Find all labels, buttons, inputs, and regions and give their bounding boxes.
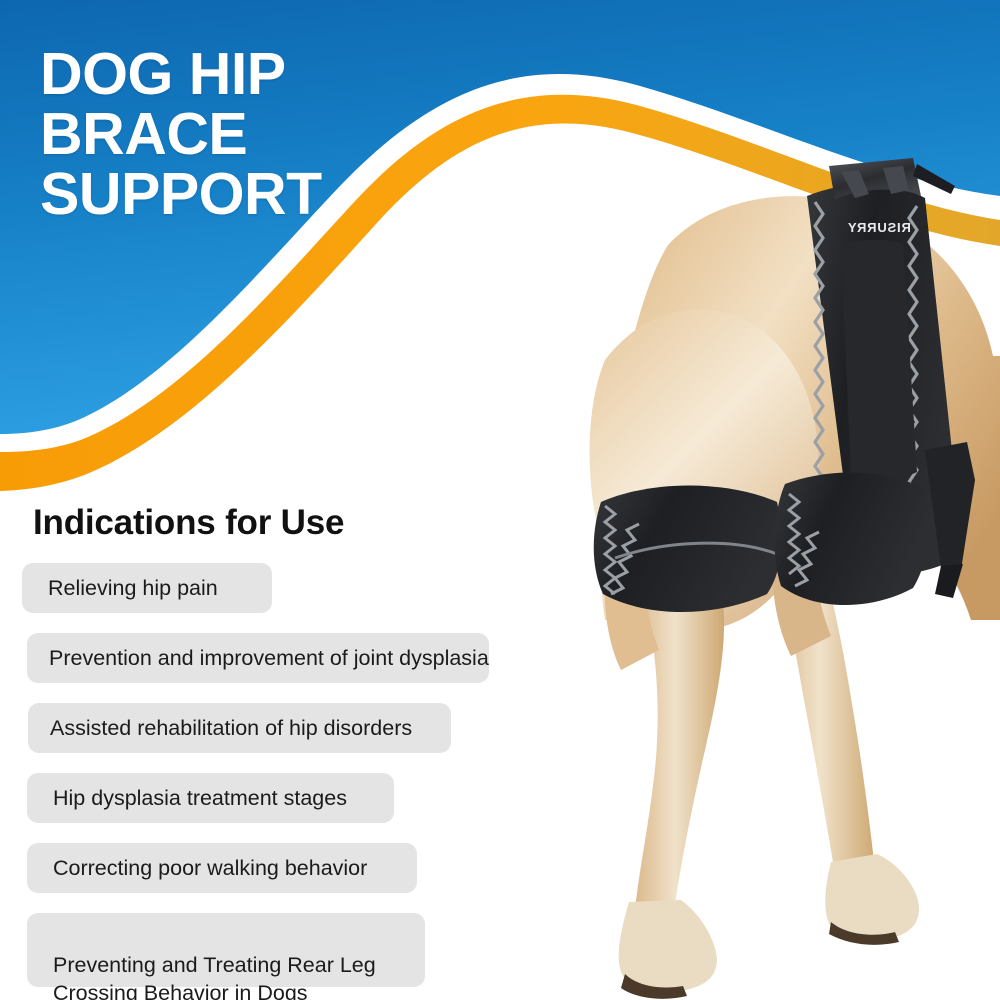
list-item-label: Preventing and Treating Rear Leg Crossin… [53, 951, 425, 1000]
brace-brand-label: RISURRY [847, 220, 911, 235]
list-item-label: Prevention and improvement of joint dysp… [49, 644, 489, 672]
indications-heading: Indications for Use [33, 503, 344, 543]
list-item-label: Hip dysplasia treatment stages [53, 784, 394, 812]
list-item-label: Relieving hip pain [48, 574, 272, 602]
dog-with-brace-illustration: RISURRY [455, 150, 1000, 1000]
list-item: Hip dysplasia treatment stages [27, 773, 394, 823]
headline-line-2: BRACE [40, 104, 460, 164]
list-item-label: Correcting poor walking behavior [53, 854, 417, 882]
headline-line-1: DOG HIP [40, 44, 460, 104]
list-item: Correcting poor walking behavior [27, 843, 417, 893]
list-item: Preventing and Treating Rear Leg Crossin… [27, 913, 425, 987]
dog-left-paw [619, 900, 717, 992]
list-item: Relieving hip pain [22, 563, 272, 613]
headline-line-3: SUPPORT [40, 164, 460, 224]
list-item: Prevention and improvement of joint dysp… [27, 633, 489, 683]
list-item-label: Assisted rehabilitation of hip disorders [50, 714, 451, 742]
headline: DOG HIP BRACE SUPPORT [40, 44, 460, 224]
product-infographic: DOG HIP BRACE SUPPORT [0, 0, 1000, 1000]
product-photo: RISURRY [455, 150, 1000, 1000]
list-item: Assisted rehabilitation of hip disorders [28, 703, 451, 753]
